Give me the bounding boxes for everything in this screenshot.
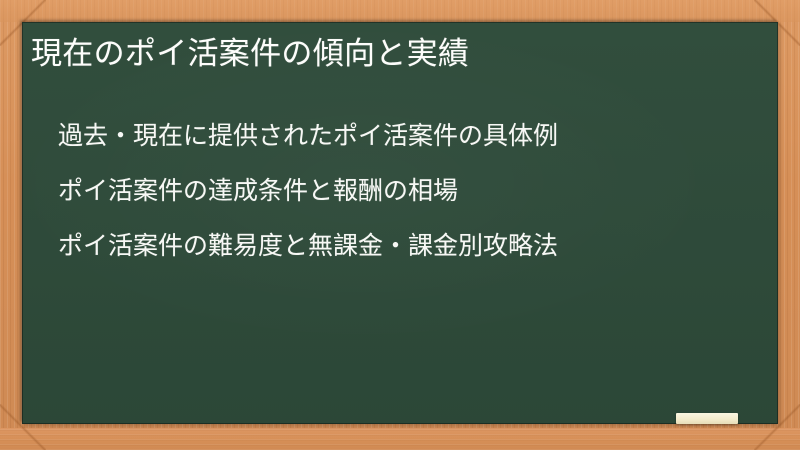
list-item: ポイ活案件の難易度と無課金・課金別攻略法 xyxy=(58,219,558,274)
slide-content: 現在のポイ活案件の傾向と実績 過去・現在に提供されたポイ活案件の具体例 ポイ活案… xyxy=(22,22,778,424)
list-item: ポイ活案件の達成条件と報酬の相場 xyxy=(58,164,558,219)
chalk-stick xyxy=(676,413,738,424)
bullet-list: 過去・現在に提供されたポイ活案件の具体例 ポイ活案件の達成条件と報酬の相場 ポイ… xyxy=(58,109,558,274)
page-title: 現在のポイ活案件の傾向と実績 xyxy=(31,32,469,76)
frame-top-rail xyxy=(0,0,800,22)
list-item: 過去・現在に提供されたポイ活案件の具体例 xyxy=(58,109,558,164)
chalkboard-slide: 現在のポイ活案件の傾向と実績 過去・現在に提供されたポイ活案件の具体例 ポイ活案… xyxy=(0,0,800,450)
frame-bottom-ledge xyxy=(0,428,800,450)
chalkboard-surface: 現在のポイ活案件の傾向と実績 過去・現在に提供されたポイ活案件の具体例 ポイ活案… xyxy=(22,22,778,424)
